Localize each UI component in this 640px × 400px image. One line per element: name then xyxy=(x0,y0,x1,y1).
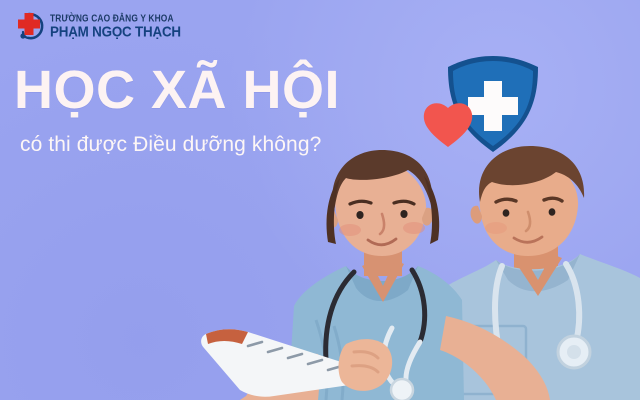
nurses-illustration xyxy=(196,120,640,400)
headline-block: HỌC XÃ HỘI có thi được Điều dưỡng không? xyxy=(14,62,434,157)
promo-banner: TRƯỜNG CAO ĐẲNG Y KHOA PHẠM NGỌC THẠCH H… xyxy=(0,0,640,400)
medical-badge-group xyxy=(418,48,568,163)
medical-shield-icon xyxy=(448,56,538,152)
brand-name-line2: PHẠM NGỌC THẠCH xyxy=(50,24,181,39)
headline-title: HỌC XÃ HỘI xyxy=(14,62,434,119)
brand-name-line1: TRƯỜNG CAO ĐẲNG Y KHOA xyxy=(50,13,181,23)
headline-subtitle: có thi được Điều dưỡng không? xyxy=(20,133,434,157)
brand-logo-text: TRƯỜNG CAO ĐẲNG Y KHOA PHẠM NGỌC THẠCH xyxy=(50,14,181,39)
female-nurse-illustration xyxy=(240,150,550,400)
male-nurse-illustration xyxy=(422,146,640,400)
brand-logo[interactable]: TRƯỜNG CAO ĐẲNG Y KHOA PHẠM NGỌC THẠCH xyxy=(12,9,181,43)
red-cross-stethoscope-logo xyxy=(12,9,46,43)
clipboard-illustration xyxy=(201,329,392,397)
